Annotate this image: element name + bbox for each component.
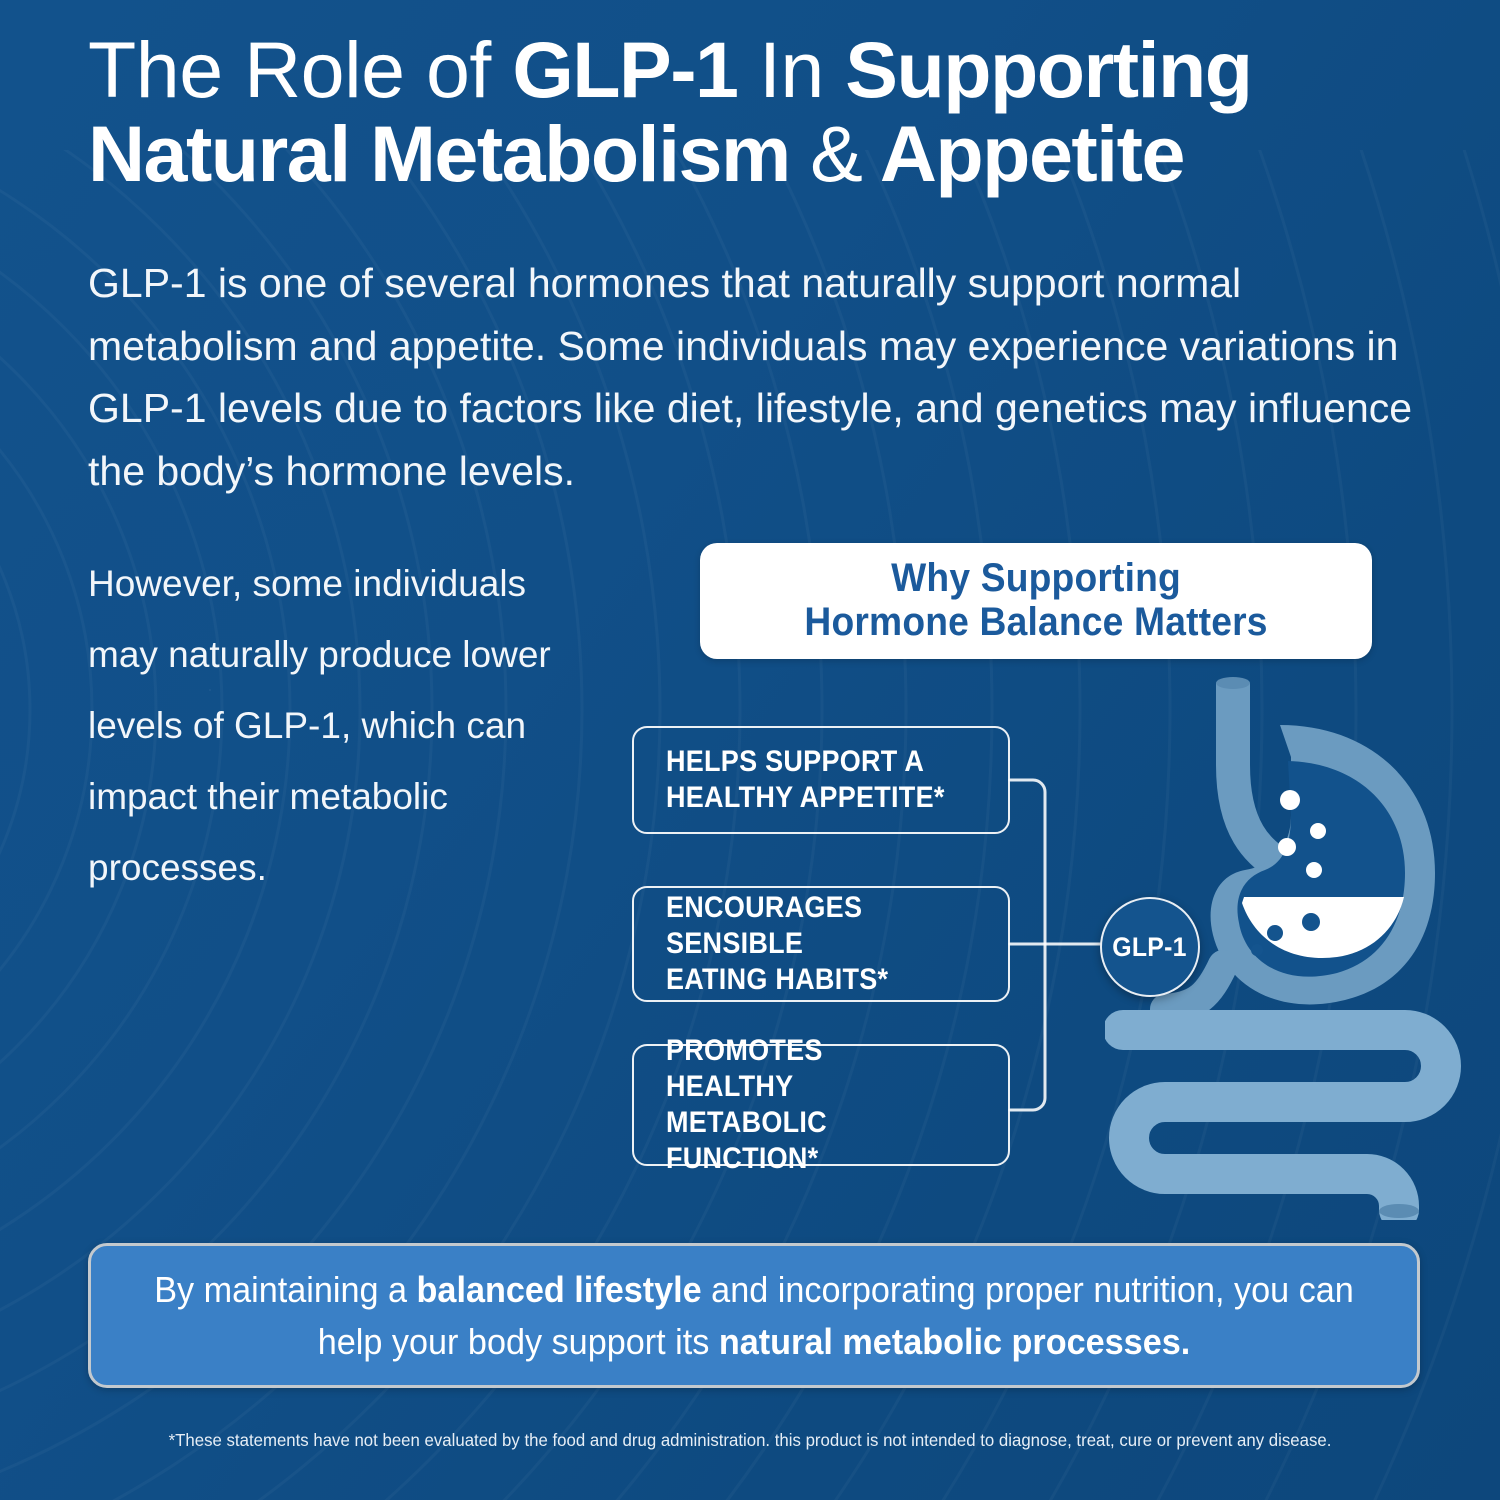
footer-disclaimer: *These statements have not been evaluate… xyxy=(30,1430,1470,1451)
summary-callout-text: By maintaining a balanced lifestyle and … xyxy=(124,1264,1384,1368)
benefit-box-3[interactable]: PROMOTES HEALTHY METABOLIC FUNCTION* xyxy=(632,1044,1010,1166)
panel-header-text: Why Supporting Hormone Balance Matters xyxy=(804,557,1267,644)
glp1-node[interactable]: GLP-1 xyxy=(1100,897,1200,997)
title-part-3: In xyxy=(738,25,846,114)
benefit-box-1-text: HELPS SUPPORT A HEALTHY APPETITE* xyxy=(666,744,945,816)
intro-paragraph: GLP-1 is one of several hormones that na… xyxy=(88,252,1458,503)
title-part-1: The Role of xyxy=(88,25,512,114)
callout-segment-2-bold: balanced lifestyle xyxy=(417,1269,702,1310)
callout-segment-1: By maintaining a xyxy=(154,1269,416,1310)
particle-dot xyxy=(1267,925,1283,941)
panel-header-card: Why Supporting Hormone Balance Matters xyxy=(700,543,1372,659)
particle-dot xyxy=(1280,790,1300,810)
particle-dot xyxy=(1302,913,1320,931)
callout-segment-4-bold: natural metabolic processes. xyxy=(719,1321,1190,1362)
title-part-6: Appetite xyxy=(862,109,1184,198)
glp1-node-label: GLP-1 xyxy=(1113,932,1188,963)
benefit-box-1-line-1: HELPS SUPPORT A xyxy=(666,744,945,780)
summary-callout-box: By maintaining a balanced lifestyle and … xyxy=(88,1243,1420,1388)
particle-dot xyxy=(1310,823,1326,839)
page-title: The Role of GLP-1 In Supporting Natural … xyxy=(88,28,1433,195)
particle-dot xyxy=(1278,838,1296,856)
panel-header-line-2: Hormone Balance Matters xyxy=(804,601,1267,645)
particle-dot xyxy=(1306,862,1322,878)
benefit-box-2-text: ENCOURAGES SENSIBLE EATING HABITS* xyxy=(666,890,958,998)
benefit-box-2-line-2: EATING HABITS* xyxy=(666,962,958,998)
title-part-2: GLP-1 xyxy=(512,25,737,114)
title-part-5: & xyxy=(810,109,862,198)
benefit-box-1-line-2: HEALTHY APPETITE* xyxy=(666,780,945,816)
benefit-box-2-line-1: ENCOURAGES SENSIBLE xyxy=(666,890,958,962)
particle-dot xyxy=(1251,944,1263,956)
panel-header-line-1: Why Supporting xyxy=(804,557,1267,601)
benefit-box-3-line-1: PROMOTES HEALTHY xyxy=(666,1033,958,1105)
benefit-box-2[interactable]: ENCOURAGES SENSIBLE EATING HABITS* xyxy=(632,886,1010,1002)
benefit-box-1[interactable]: HELPS SUPPORT A HEALTHY APPETITE* xyxy=(632,726,1010,834)
benefit-box-3-text: PROMOTES HEALTHY METABOLIC FUNCTION* xyxy=(666,1033,958,1177)
left-column-paragraph: However, some individuals may naturally … xyxy=(88,548,598,903)
benefit-box-3-line-2: METABOLIC FUNCTION* xyxy=(666,1105,958,1177)
infographic-page: The Role of GLP-1 In Supporting Natural … xyxy=(0,0,1500,1500)
